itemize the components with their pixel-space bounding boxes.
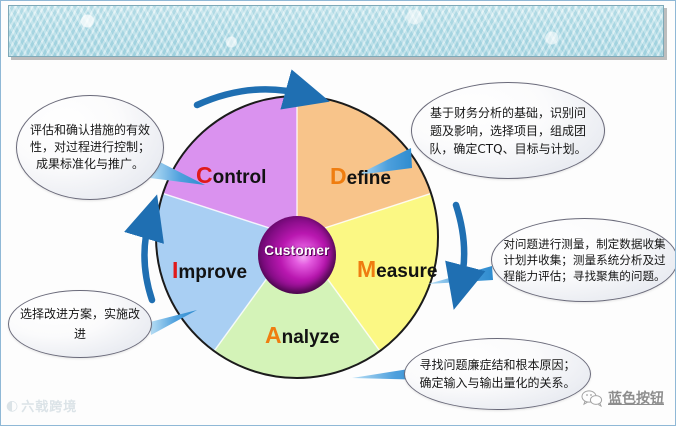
wheel-label-analyze-rest: nalyze [282,327,340,348]
callout-define[interactable]: 基于财务分析的基础，识别问题及影响，选择项目，组成团队，确定CTQ、目标与计划。 [411,82,605,179]
callout-control[interactable]: 评估和确认措施的有效性，对过程进行控制；成果标准化与推广。 [16,95,164,200]
callout-define-text: 基于财务分析的基础，识别问题及影响，选择项目，组成团队，确定CTQ、目标与计划。 [412,104,604,158]
customer-hub-label: Customer [258,243,336,258]
watermark-right: 蓝色按钮 [581,388,664,408]
wheel-label-analyze[interactable]: Analyze [265,322,340,349]
wheel-label-improve-rest: mprove [178,262,247,283]
cycle-arrow-left [144,218,152,300]
wheel-label-define-rest: efine [347,168,391,189]
callout-measure[interactable]: 对问题进行测量，制定数据收集计划并收集；测量系统分析及过程能力评估；寻找聚焦的问… [491,218,676,302]
title-banner [8,5,664,57]
wheel-label-control[interactable]: Control [196,162,266,189]
wheel-label-control-cap: C [196,162,213,188]
callout-improve[interactable]: 选择改进方案，实施改进 [8,290,152,358]
wheel-label-control-rest: ontrol [213,167,267,188]
watermark-left-text: 六戟跨境 [21,396,77,415]
wheel-label-measure[interactable]: Measure [357,256,437,283]
wechat-icon [581,389,603,407]
callout-improve-text: 选择改进方案，实施改进 [9,304,151,344]
wheel-label-improve[interactable]: Improve [172,257,247,284]
callout-control-text: 评估和确认措施的有效性，对过程进行控制；成果标准化与推广。 [17,122,163,173]
callout-analyze-text: 寻找问题廉症结和根本原因；确定输入与输出量化的关系。 [405,356,590,392]
callout-analyze[interactable]: 寻找问题廉症结和根本原因；确定输入与输出量化的关系。 [404,338,591,410]
wheel-label-define[interactable]: Define [330,163,391,190]
callout-measure-text: 对问题进行测量，制定数据收集计划并收集；测量系统分析及过程能力评估；寻找聚焦的问… [492,236,676,284]
wheel-label-analyze-cap: A [265,322,282,348]
watermark-left: ◐ 六戟跨境 [6,396,77,415]
watermark-right-text: 蓝色按钮 [608,388,664,408]
slide-canvas: The DMAIC cycle: Structured application … [0,0,676,426]
cycle-arrow-right [456,205,464,286]
watermark-left-icon: ◐ [6,398,18,414]
wheel-label-define-cap: D [330,163,347,189]
wheel-label-measure-rest: easure [376,261,437,282]
wheel-label-measure-cap: M [357,256,376,282]
